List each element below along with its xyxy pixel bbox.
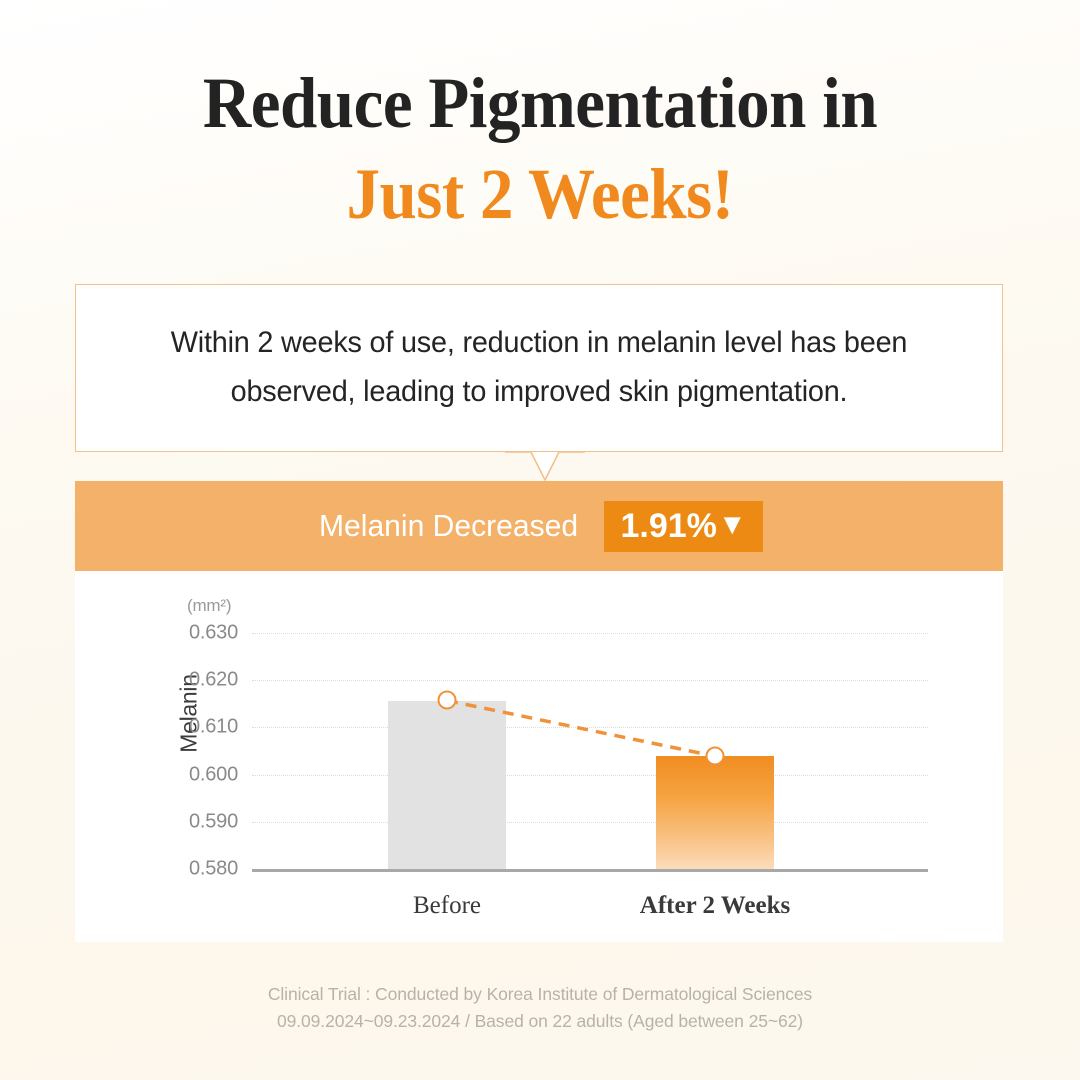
footnote-line-1: Clinical Trial : Conducted by Korea Inst… bbox=[0, 981, 1080, 1008]
description-text: Within 2 weeks of use, reduction in mela… bbox=[95, 319, 984, 416]
description-callout: Within 2 weeks of use, reduction in mela… bbox=[75, 284, 1003, 452]
y-axis-unit: (mm²) bbox=[187, 596, 231, 616]
data-point-marker bbox=[706, 747, 725, 766]
y-axis-tick-label: 0.610 bbox=[189, 716, 238, 739]
y-axis-tick-label: 0.580 bbox=[189, 858, 238, 881]
plot-area: 0.6300.6200.6100.6000.5900.580BeforeAfte… bbox=[252, 633, 928, 869]
footnote-line-2: 09.09.2024~09.23.2024 / Based on 22 adul… bbox=[0, 1008, 1080, 1035]
y-axis-tick-label: 0.630 bbox=[189, 622, 238, 645]
y-axis-tick-label: 0.590 bbox=[189, 810, 238, 833]
data-point-marker bbox=[438, 691, 457, 710]
banner-label: Melanin Decreased bbox=[319, 508, 578, 544]
x-axis-category-label: After 2 Weeks bbox=[640, 892, 790, 920]
x-axis-category-label: Before bbox=[413, 892, 481, 920]
melanin-decreased-banner: Melanin Decreased 1.91% ▼ bbox=[75, 481, 1003, 571]
down-arrow-icon: ▼ bbox=[718, 511, 747, 540]
decrease-value: 1.91% bbox=[620, 509, 716, 543]
y-axis-tick-label: 0.620 bbox=[189, 669, 238, 692]
x-axis-line bbox=[252, 869, 928, 872]
callout-arrow-icon bbox=[505, 451, 585, 485]
y-axis-tick-label: 0.600 bbox=[189, 763, 238, 786]
page-title-line-1: Reduce Pigmentation in bbox=[38, 58, 1042, 149]
page-title-line-2: Just 2 Weeks! bbox=[38, 149, 1042, 240]
decrease-badge: 1.91% ▼ bbox=[604, 501, 762, 552]
page-title: Reduce Pigmentation in Just 2 Weeks! bbox=[0, 58, 1080, 239]
footnote: Clinical Trial : Conducted by Korea Inst… bbox=[0, 981, 1080, 1035]
trend-line bbox=[252, 633, 928, 869]
